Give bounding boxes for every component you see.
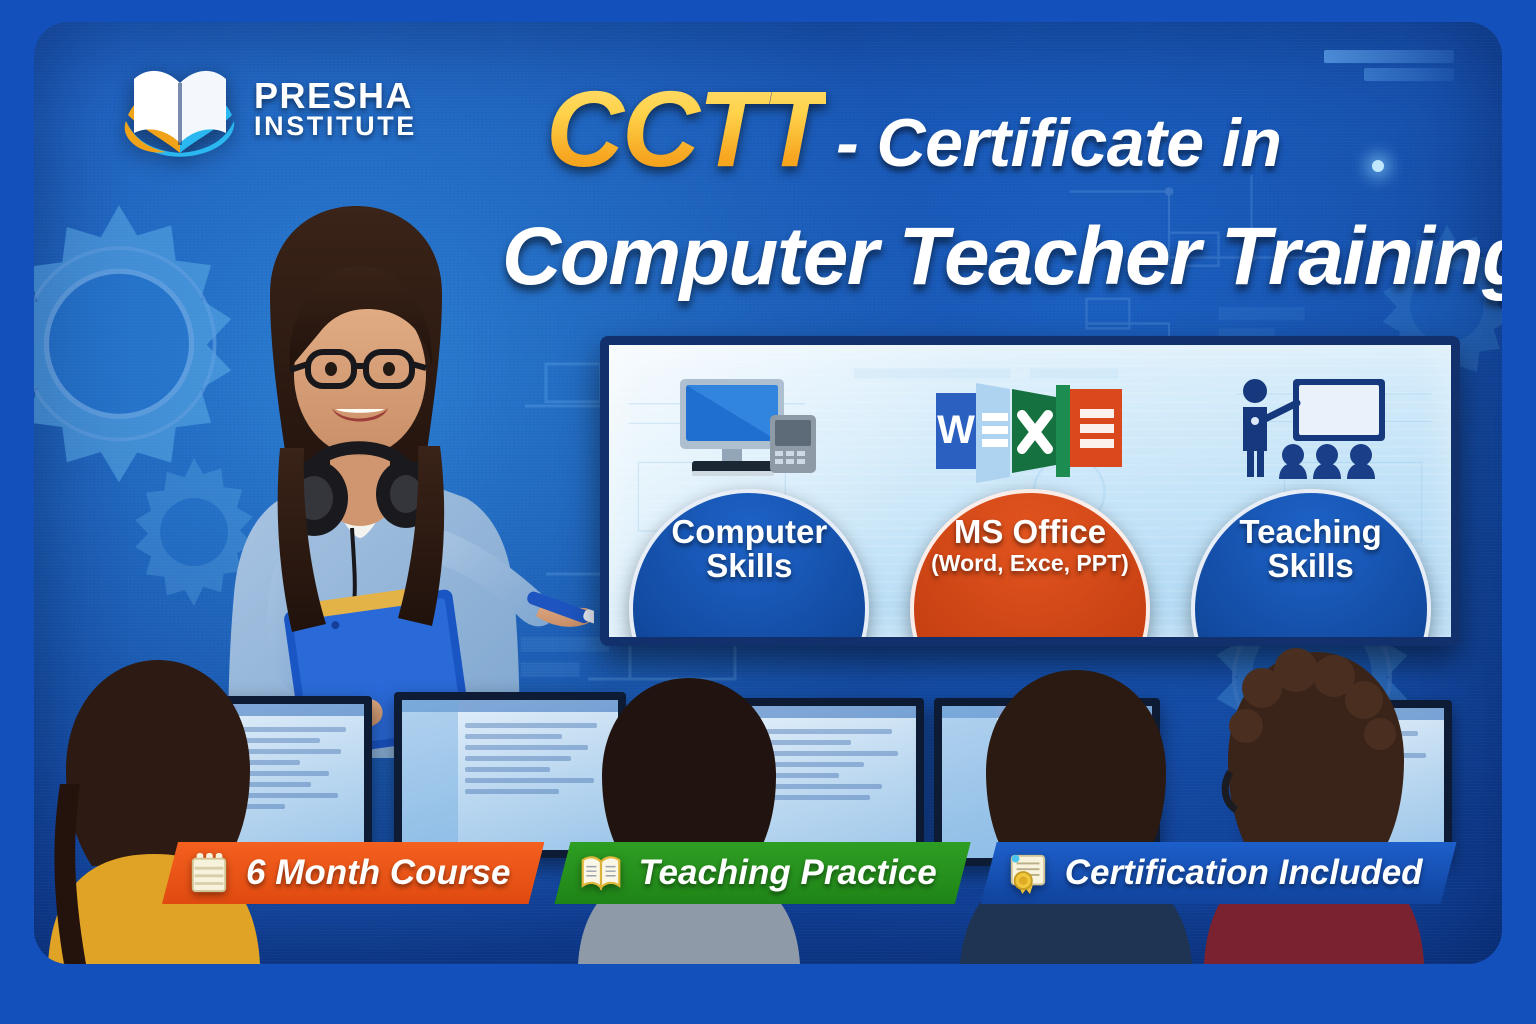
open-book-icon (580, 851, 622, 895)
certificate-icon (1007, 851, 1049, 895)
badge-computer-skills[interactable]: Computer Skills (625, 369, 873, 646)
ui-sidebar (942, 706, 997, 858)
ui-sidebar (1260, 708, 1308, 852)
badge-subtitle: (Word, Exce, PPT) (931, 551, 1129, 575)
student-monitor (1252, 700, 1452, 860)
badge-teaching-skills[interactable]: Teaching Skills (1187, 369, 1435, 646)
badge-icon-wrap (1187, 369, 1435, 487)
ribbon-teaching-practice[interactable]: Teaching Practice (554, 842, 970, 904)
calendar-icon (188, 851, 230, 895)
ui-header-bar (942, 706, 1152, 718)
badge-disc: Computer Skills (629, 489, 869, 646)
title-line-1: CCTT - Certificate in (546, 66, 1281, 184)
student-back-view (554, 654, 824, 964)
badge-disc: Teaching Skills (1191, 489, 1431, 646)
badge-title: MS Office (948, 515, 1112, 549)
ribbon-label: Certification Included (1065, 853, 1423, 893)
title-suffix: - Certificate in (836, 104, 1281, 182)
student-back-view (934, 644, 1214, 964)
badge-title-2: Skills (700, 549, 798, 583)
brand-name-line1: PRESHA (254, 78, 417, 113)
ui-header-bar (1260, 708, 1444, 720)
ribbon-label: 6 Month Course (246, 853, 510, 893)
brand-logo: PRESHA INSTITUTE (120, 50, 520, 168)
teacher-at-whiteboard-icon (1231, 375, 1391, 487)
badge-icon-wrap: W (906, 369, 1154, 487)
badge-icon-wrap (625, 369, 873, 487)
student-back-view (1184, 624, 1434, 964)
poster-root: PRESHA INSTITUTE CCTT - Certificate in C… (0, 0, 1536, 1024)
brand-name-line2: INSTITUTE (254, 113, 417, 139)
badge-title: Teaching (1233, 515, 1387, 549)
ribbon-6-month-course[interactable]: 6 Month Course (162, 842, 544, 904)
skill-badges: Computer Skills W (609, 429, 1451, 646)
presentation-screen: Computer Skills W (600, 336, 1460, 646)
ui-header-bar (690, 706, 916, 718)
monitor-screen-ui (1260, 708, 1444, 852)
open-book-icon (120, 57, 240, 161)
brand-name: PRESHA INSTITUTE (254, 78, 417, 140)
ribbon-label: Teaching Practice (638, 853, 936, 893)
title-line-2: Computer Teacher Training (502, 210, 1502, 304)
svg-text:W: W (937, 408, 975, 452)
course-acronym: CCTT (546, 66, 826, 191)
badge-ms-office[interactable]: W (906, 369, 1154, 646)
feature-ribbons: 6 Month Course Teaching Practice (34, 840, 1502, 906)
badge-title-2: Skills (1262, 549, 1360, 583)
ribbon-certification-included[interactable]: Certification Included (981, 842, 1457, 904)
ms-office-suite-icon: W (930, 375, 1130, 487)
badge-disc: MS Office (Word, Exce, PPT) (910, 489, 1150, 646)
badge-title: Computer (665, 515, 833, 549)
poster-inner-frame: PRESHA INSTITUTE CCTT - Certificate in C… (34, 22, 1502, 964)
desktop-computer-icon (674, 375, 824, 487)
presenter-instructor-photo (174, 198, 594, 758)
monitor-screen-ui (942, 706, 1152, 858)
